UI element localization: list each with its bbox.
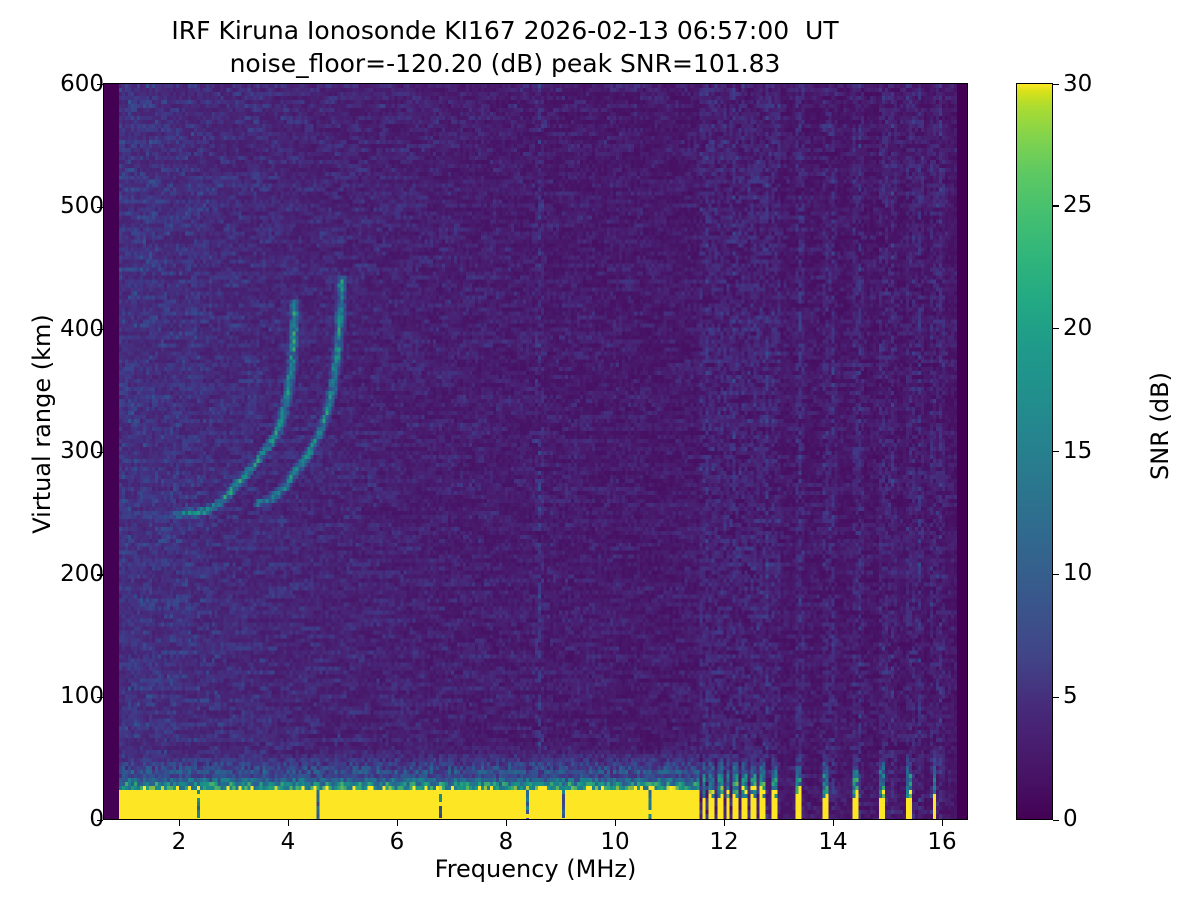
colorbar-tick-30 (1053, 84, 1059, 85)
colorbar (1016, 83, 1053, 820)
title-line-1: IRF Kiruna Ionosonde KI167 2026-02-13 06… (0, 14, 1010, 47)
colorbar-gradient (1017, 84, 1052, 819)
y-ticklabel-0: 0 (89, 808, 104, 831)
x-tick-14 (833, 820, 834, 826)
x-ticklabel-2: 2 (149, 831, 209, 854)
y-ticklabel-200: 200 (60, 563, 104, 586)
colorbar-tick-5 (1053, 697, 1059, 698)
x-ticklabel-10: 10 (585, 831, 645, 854)
x-tick-2 (179, 820, 180, 826)
x-ticklabel-6: 6 (367, 831, 427, 854)
y-ticklabel-100: 100 (60, 685, 104, 708)
figure-title: IRF Kiruna Ionosonde KI167 2026-02-13 06… (0, 14, 1010, 80)
x-tick-8 (506, 820, 507, 826)
colorbar-tick-15 (1053, 451, 1059, 452)
colorbar-label: SNR (dB) (1146, 276, 1174, 576)
y-axis-label: Virtual range (km) (28, 224, 56, 624)
x-ticklabel-16: 16 (912, 831, 972, 854)
y-ticklabel-500: 500 (60, 195, 104, 218)
ionogram-heatmap (104, 84, 967, 819)
x-tick-10 (615, 820, 616, 826)
y-ticklabel-400: 400 (60, 318, 104, 341)
ionogram-plot-area (103, 83, 968, 820)
x-tick-12 (724, 820, 725, 826)
x-ticklabel-8: 8 (476, 831, 536, 854)
colorbar-ticklabel-10: 10 (1063, 562, 1092, 585)
colorbar-ticklabel-30: 30 (1063, 73, 1092, 96)
x-tick-6 (397, 820, 398, 826)
x-tick-16 (942, 820, 943, 826)
x-ticklabel-4: 4 (258, 831, 318, 854)
colorbar-tick-25 (1053, 205, 1059, 206)
y-ticklabel-600: 600 (60, 73, 104, 96)
colorbar-ticklabel-25: 25 (1063, 194, 1092, 217)
colorbar-tick-10 (1053, 574, 1059, 575)
colorbar-ticklabel-0: 0 (1063, 808, 1078, 831)
colorbar-tick-20 (1053, 328, 1059, 329)
x-ticklabel-14: 14 (803, 831, 863, 854)
x-ticklabel-12: 12 (694, 831, 754, 854)
colorbar-ticklabel-5: 5 (1063, 685, 1078, 708)
figure-root: IRF Kiruna Ionosonde KI167 2026-02-13 06… (0, 0, 1200, 900)
x-axis-label: Frequency (MHz) (103, 855, 968, 883)
y-ticklabel-300: 300 (60, 440, 104, 463)
colorbar-tick-0 (1053, 820, 1059, 821)
title-line-2: noise_floor=-120.20 (dB) peak SNR=101.83 (0, 47, 1010, 80)
x-tick-4 (288, 820, 289, 826)
colorbar-ticklabel-15: 15 (1063, 440, 1092, 463)
colorbar-ticklabel-20: 20 (1063, 317, 1092, 340)
